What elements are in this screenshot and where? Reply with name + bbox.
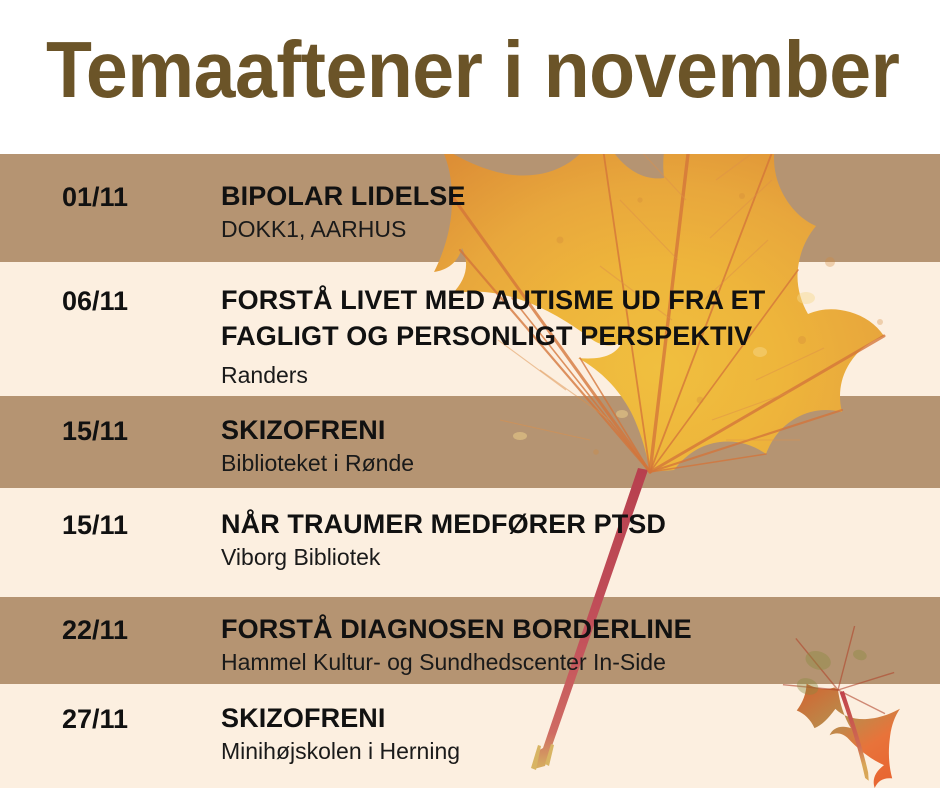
event-row: 01/11 BIPOLAR LIDELSE DOKK1, AARHUS — [0, 154, 940, 262]
event-row: 06/11 FORSTÅ LIVET MED AUTISME UD FRA ET… — [0, 262, 940, 396]
event-title: FORSTÅ LIVET MED AUTISME UD FRA ET FAGLI… — [221, 282, 930, 354]
event-body: FORSTÅ LIVET MED AUTISME UD FRA ET FAGLI… — [221, 282, 930, 390]
event-date: 15/11 — [62, 510, 128, 541]
event-date: 27/11 — [62, 704, 128, 735]
event-body: BIPOLAR LIDELSE DOKK1, AARHUS — [221, 178, 930, 244]
event-title: NÅR TRAUMER MEDFØRER PTSD — [221, 506, 930, 542]
event-title: FORSTÅ DIAGNOSEN BORDERLINE — [221, 611, 930, 647]
event-title: SKIZOFRENI — [221, 700, 930, 736]
event-venue: Hammel Kultur- og Sundhedscenter In-Side — [221, 647, 930, 677]
event-date: 15/11 — [62, 416, 128, 447]
event-title: SKIZOFRENI — [221, 412, 930, 448]
title-band: Temaaftener i november — [0, 0, 940, 154]
event-body: SKIZOFRENI Minihøjskolen i Herning — [221, 700, 930, 766]
event-venue: Biblioteket i Rønde — [221, 448, 930, 478]
event-date: 22/11 — [62, 615, 128, 646]
event-date: 06/11 — [62, 286, 128, 317]
event-venue: DOKK1, AARHUS — [221, 214, 930, 244]
page-title: Temaaftener i november — [46, 22, 854, 118]
event-list: 01/11 BIPOLAR LIDELSE DOKK1, AARHUS 06/1… — [0, 154, 940, 788]
event-title: BIPOLAR LIDELSE — [221, 178, 930, 214]
event-row: 15/11 SKIZOFRENI Biblioteket i Rønde — [0, 396, 940, 488]
event-body: NÅR TRAUMER MEDFØRER PTSD Viborg Bibliot… — [221, 506, 930, 572]
event-venue: Minihøjskolen i Herning — [221, 736, 930, 766]
event-venue: Randers — [221, 360, 930, 390]
event-body: FORSTÅ DIAGNOSEN BORDERLINE Hammel Kultu… — [221, 611, 930, 677]
event-row: 22/11 FORSTÅ DIAGNOSEN BORDERLINE Hammel… — [0, 597, 940, 684]
event-row: 27/11 SKIZOFRENI Minihøjskolen i Herning — [0, 684, 940, 788]
event-date: 01/11 — [62, 182, 128, 213]
poster: 01/11 BIPOLAR LIDELSE DOKK1, AARHUS 06/1… — [0, 0, 940, 788]
event-venue: Viborg Bibliotek — [221, 542, 930, 572]
event-body: SKIZOFRENI Biblioteket i Rønde — [221, 412, 930, 478]
event-row: 15/11 NÅR TRAUMER MEDFØRER PTSD Viborg B… — [0, 488, 940, 597]
